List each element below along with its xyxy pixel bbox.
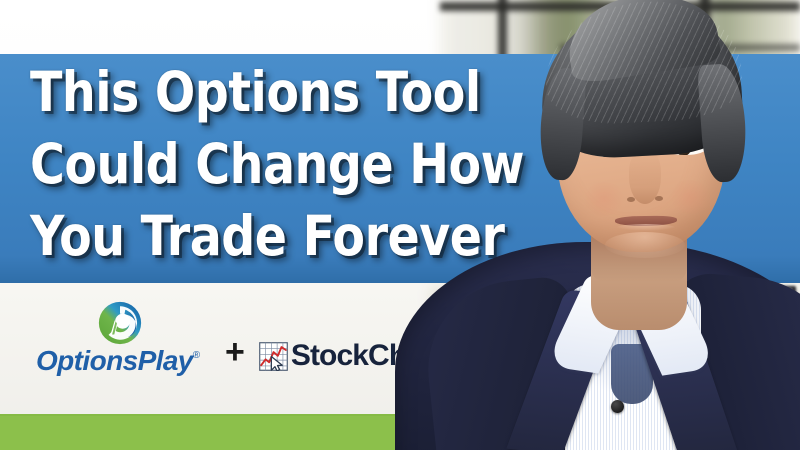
headline-line-1: This Options Tool [30,56,452,128]
optionsplay-circle-logo-icon [98,301,142,345]
optionsplay-wordmark-text: OptionsPlay [36,345,193,376]
optionsplay-wordmark: OptionsPlay® [36,345,200,377]
chin-highlight [605,232,685,258]
headline-line-3: You Trade Forever [30,200,452,272]
headline-line-2: Could Change How [30,128,452,200]
nostril-left [627,197,635,202]
cheek-right [667,180,713,214]
headline: This Options Tool Could Change How You T… [30,56,470,272]
presenter-photo-cutout [415,0,800,450]
plus-separator: + [225,335,245,379]
cheek-left [581,182,627,216]
stockcharts-chart-cursor-logo-icon [259,342,288,371]
video-thumbnail: This Options Tool Could Change How You T… [0,0,800,450]
optionsplay-logo: OptionsPlay® [36,301,211,379]
lapel-microphone [611,400,624,413]
lower-lip-highlight [617,224,675,231]
nostril-right [655,196,663,201]
registered-trademark-icon: ® [193,350,200,361]
